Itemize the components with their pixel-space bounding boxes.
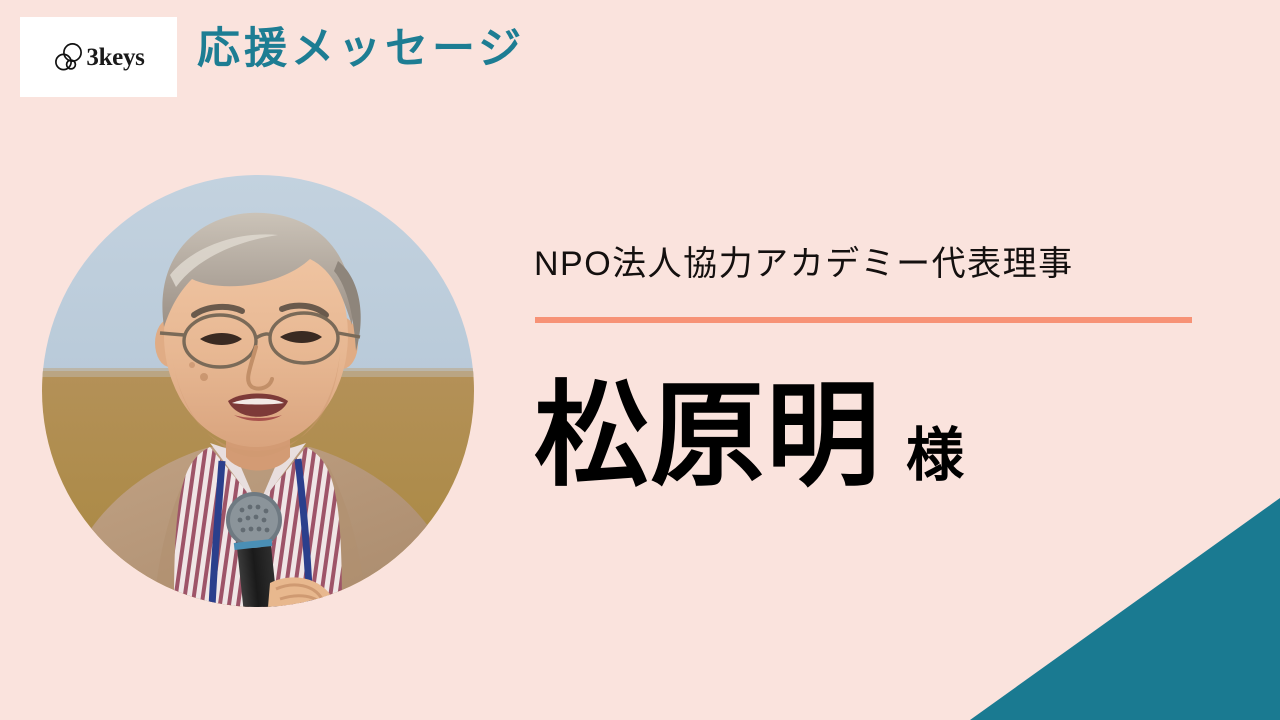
logo-box: 3keys: [20, 17, 177, 97]
logo-lockup: 3keys: [52, 40, 144, 74]
name-honorific: 様: [906, 427, 964, 485]
divider-rule: [535, 317, 1192, 323]
three-circles-logo-mark: [52, 40, 86, 74]
affiliation-text: NPO法人協力アカデミー代表理事: [534, 243, 1074, 286]
page-title: 応援メッセージ: [197, 24, 525, 76]
person-name: 松原明: [534, 380, 882, 494]
name-row: 松原明 様: [534, 380, 964, 494]
slide-canvas: 3keys 応援メッセージ: [0, 0, 1280, 720]
logo-wordmark: 3keys: [86, 45, 144, 70]
corner-wedge-decoration: [970, 498, 1280, 720]
portrait-photo: [42, 175, 474, 607]
